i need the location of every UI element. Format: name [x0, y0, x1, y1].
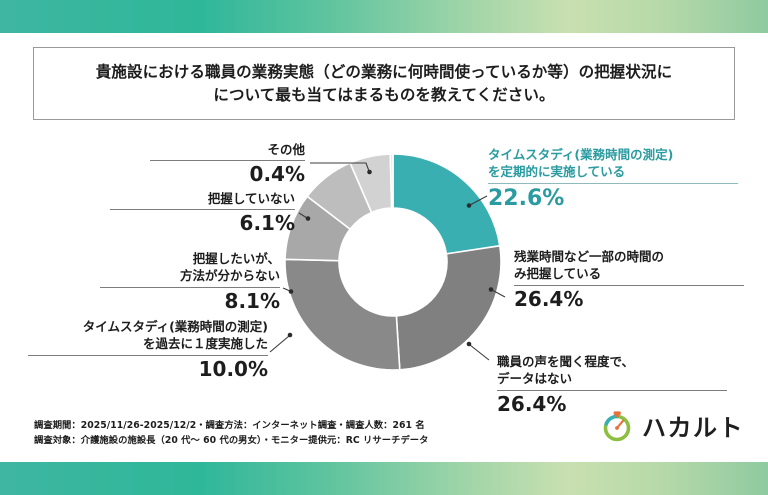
donut-svg — [273, 142, 513, 382]
callout-want-but-no-method: 把握したいが、 方法が分からない 8.1% — [100, 250, 280, 313]
callout-time-study-once: タイムスタディ(業務時間の測定) を過去に１度実施した 10.0% — [28, 318, 268, 381]
callout-want-pct: 8.1% — [100, 290, 280, 313]
callout-once-line1: タイムスタディ(業務時間の測定) — [28, 318, 268, 335]
callout-want-line2: 方法が分からない — [100, 267, 280, 284]
question-line-2: について最も当てはまるものを教えてください。 — [213, 84, 554, 107]
donut-slice — [390, 154, 393, 208]
callout-other-line1: その他 — [150, 141, 305, 158]
callout-overtime-pct: 26.4% — [514, 288, 744, 311]
callout-regular-pct: 22.6% — [488, 186, 738, 211]
callout-once-line2: を過去に１度実施した — [28, 335, 268, 352]
callout-overtime-line1: 残業時間など一部の時間の — [514, 248, 744, 265]
survey-meta: 調査期間：2025/11/26-2025/12/2・調査方法：インターネット調査… — [34, 418, 429, 448]
callout-overtime-partial: 残業時間など一部の時間の み把握している 26.4% — [514, 248, 744, 311]
bottom-gradient-band — [0, 462, 768, 495]
callout-staff-voice: 職員の声を聞く程度で、 データはない 26.4% — [497, 353, 727, 416]
callout-once-rule — [28, 355, 268, 356]
callout-time-study-regular: タイムスタディ(業務時間の測定) を定期的に実施している 22.6% — [488, 146, 738, 211]
stopwatch-icon — [600, 409, 634, 443]
donut-chart — [273, 142, 513, 382]
callout-voice-line2: データはない — [497, 370, 727, 387]
brand-name: ハカルト — [642, 408, 744, 443]
callout-regular-rule — [488, 183, 738, 184]
callout-voice-line1: 職員の声を聞く程度で、 — [497, 353, 727, 370]
question-line-1: 貴施設における職員の業務実態（どの業務に何時間使っているか等）の把握状況に — [96, 61, 672, 84]
callout-not-tracking-line1: 把握していない — [110, 190, 295, 207]
survey-meta-line-2: 調査対象：介護施設の施設長（20 代〜 60 代の男女）・モニター提供元：RC … — [34, 433, 429, 448]
survey-meta-line-1: 調査期間：2025/11/26-2025/12/2・調査方法：インターネット調査… — [34, 418, 429, 433]
survey-question-box: 貴施設における職員の業務実態（どの業務に何時間使っているか等）の把握状況に につ… — [33, 47, 735, 120]
callout-not-tracking-rule — [110, 209, 295, 210]
infographic-root: 貴施設における職員の業務実態（どの業務に何時間使っているか等）の把握状況に につ… — [0, 0, 768, 495]
donut-slice — [393, 154, 500, 254]
callout-overtime-line2: み把握している — [514, 265, 744, 282]
callout-regular-line1: タイムスタディ(業務時間の測定) — [488, 146, 738, 163]
brand-logo: ハカルト — [600, 408, 744, 443]
top-gradient-band — [0, 0, 768, 33]
callout-want-rule — [100, 287, 280, 288]
callout-regular-line2: を定期的に実施している — [488, 163, 738, 180]
callout-voice-rule — [497, 390, 727, 391]
callout-other-pct: 0.4% — [150, 163, 305, 186]
callout-other-rule — [150, 160, 305, 161]
callout-not-tracking: 把握していない 6.1% — [110, 190, 295, 235]
callout-once-pct: 10.0% — [28, 358, 268, 381]
callout-other: その他 0.4% — [150, 141, 305, 186]
callout-overtime-rule — [514, 285, 744, 286]
callout-not-tracking-pct: 6.1% — [110, 212, 295, 235]
donut-slice — [285, 259, 400, 370]
callout-want-line1: 把握したいが、 — [100, 250, 280, 267]
donut-slice — [396, 246, 501, 370]
